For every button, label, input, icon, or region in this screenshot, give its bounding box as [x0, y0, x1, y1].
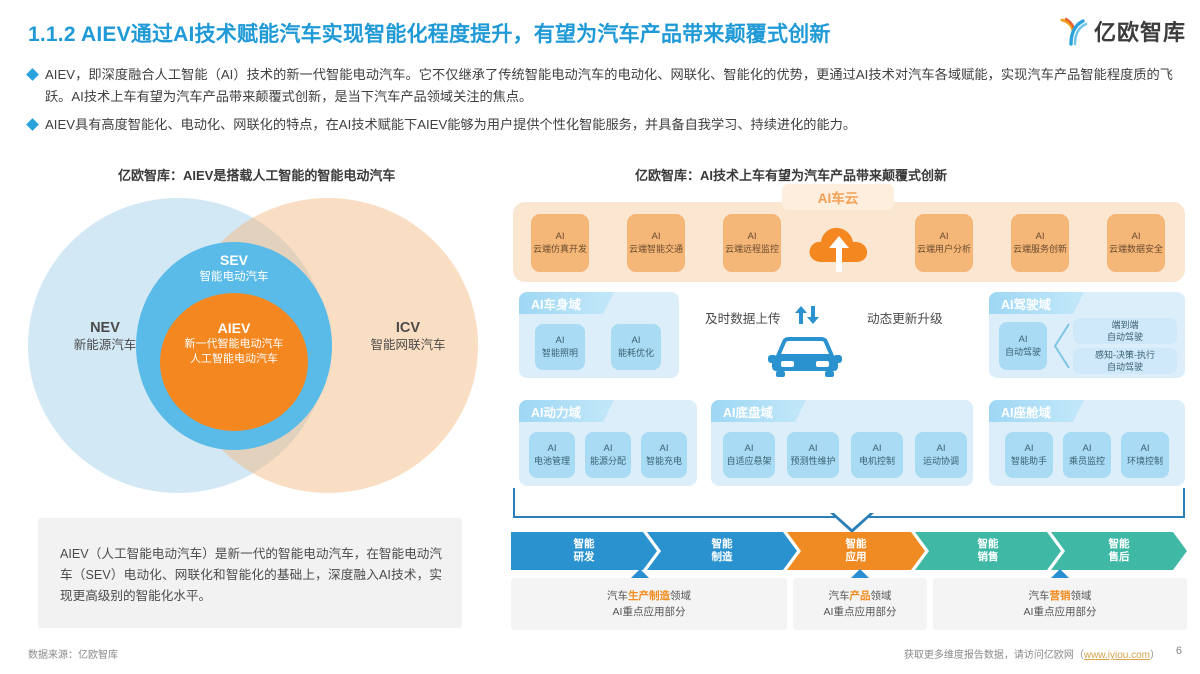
domain-title-body: AI车身域 — [519, 292, 603, 314]
domain-branch-item[interactable]: 端到端 自动驾驶 — [1073, 318, 1177, 344]
note-line2: AI重点应用部分 — [1024, 604, 1097, 620]
cloud-item-tag: AI — [748, 231, 757, 244]
note-line2: AI重点应用部分 — [824, 604, 897, 620]
domain-item-tag: AI — [632, 335, 641, 347]
bullet-list: AIEV，即深度融合人工智能（AI）技术的新一代智能电动汽车。它不仅继承了传统智… — [28, 64, 1178, 142]
note-line1: 汽车生产制造领域 — [607, 588, 691, 604]
diamond-bullet-icon — [26, 118, 39, 131]
domain-item-name: 电机控制 — [859, 455, 895, 467]
domain-item-name: 自适应悬架 — [726, 455, 771, 467]
domain-item[interactable]: AI 运动协调 — [915, 432, 967, 478]
venn-label-aiev-cn1: 新一代智能电动汽车 — [156, 337, 312, 352]
domain-item[interactable]: AI 智能充电 — [641, 432, 687, 478]
cloud-item-tag: AI — [1132, 231, 1141, 244]
domain-item[interactable]: AI 智能照明 — [535, 324, 585, 370]
chevron-line1: 智能 — [574, 538, 595, 551]
venn-label-nev-en: NEV — [40, 320, 170, 337]
domain-title-cockpit: AI座舱域 — [989, 400, 1073, 422]
note-highlight: 生产制造 — [628, 590, 670, 602]
note-pointer-icon — [851, 569, 869, 578]
chevron-step[interactable]: 智能 应用 — [787, 532, 925, 570]
domain-item[interactable]: AI 电机控制 — [851, 432, 903, 478]
venn-label-icv: ICV 智能网联汽车 — [338, 320, 478, 354]
cloud-item-tag: AI — [940, 231, 949, 244]
note-suffix: 领域 — [871, 590, 892, 602]
cloud-item-name: 云端仿真开发 — [533, 243, 587, 256]
domain-item-tag: AI — [604, 443, 613, 455]
chevron-line2: 销售 — [978, 551, 999, 564]
domain-item-name: 智能助手 — [1011, 455, 1047, 467]
cloud-item-name: 云端远程监控 — [725, 243, 779, 256]
cloud-item-tag: AI — [652, 231, 661, 244]
domain-item-name: 智能充电 — [646, 455, 682, 467]
note-prefix: 汽车 — [607, 590, 628, 602]
cloud-upload-icon — [804, 222, 874, 278]
domain-item-tag: AI — [873, 443, 882, 455]
venn-diagram: NEV 新能源汽车 ICV 智能网联汽车 SEV 智能电动汽车 AIEV 新一代… — [28, 190, 483, 500]
cloud-item-tag: AI — [556, 231, 565, 244]
domain-title-driving: AI驾驶域 — [989, 292, 1073, 314]
bullet-item: AIEV具有高度智能化、电动化、网联化的特点，在AI技术赋能下AIEV能够为用户… — [28, 114, 1178, 136]
domain-item[interactable]: AI 能耗优化 — [611, 324, 661, 370]
chevron-line1: 智能 — [846, 538, 867, 551]
venn-label-nev: NEV 新能源汽车 — [40, 320, 170, 354]
note-prefix: 汽车 — [1029, 590, 1050, 602]
cloud-item-name: 云端数据安全 — [1109, 243, 1163, 256]
chevron-line2: 应用 — [846, 551, 867, 564]
note-highlight: 营销 — [1050, 590, 1071, 602]
domain-item-tag: AI — [937, 443, 946, 455]
domain-item-tag: AI — [1025, 443, 1034, 455]
cloud-item[interactable]: AI 云端远程监控 — [723, 214, 781, 272]
domain-title-power: AI动力域 — [519, 400, 603, 422]
branch-connector-icon — [1049, 322, 1071, 375]
data-upload-label: 及时数据上传 — [705, 308, 781, 327]
chevron-step[interactable]: 智能 售后 — [1051, 532, 1187, 570]
note-suffix: 领域 — [670, 590, 691, 602]
note-line1: 汽车营销领域 — [1029, 588, 1092, 604]
domain-item-name: 自动驾驶 — [1005, 346, 1041, 358]
cloud-item[interactable]: AI 云端智能交通 — [627, 214, 685, 272]
domain-item-name: 运动协调 — [923, 455, 959, 467]
domain-item[interactable]: AI 自适应悬架 — [723, 432, 775, 478]
domain-item-name: 智能照明 — [542, 347, 578, 359]
domain-item-tag: AI — [1083, 443, 1092, 455]
bracket-arrow-inner-icon — [834, 513, 870, 529]
right-panel-heading: 亿欧智库：AI技术上车有望为汽车产品带来颠覆式创新 — [635, 165, 947, 184]
cloud-item[interactable]: AI 云端用户分析 — [915, 214, 973, 272]
note-line2: AI重点应用部分 — [613, 604, 686, 620]
application-notes: 汽车生产制造领域 AI重点应用部分 汽车产品领域 AI重点应用部分 汽车营销领域… — [511, 578, 1187, 634]
domain-item-name: 乘员监控 — [1069, 455, 1105, 467]
page-number: 6 — [1176, 645, 1182, 657]
domain-item-name: 电池管理 — [534, 455, 570, 467]
domain-branch-line2: 自动驾驶 — [1107, 331, 1143, 343]
domain-branch-line1: 端到端 — [1111, 319, 1138, 331]
venn-label-sev-cn: 智能电动汽车 — [158, 269, 310, 286]
slide-page: 1.1.2 AIEV通过AI技术赋能汽车实现智能化程度提升，有望为汽车产品带来颠… — [0, 0, 1200, 674]
note-line1: 汽车产品领域 — [829, 588, 892, 604]
domain-item[interactable]: AI 智能助手 — [1005, 432, 1053, 478]
dynamic-update-label: 动态更新升级 — [867, 308, 943, 327]
domain-item[interactable]: AI 环境控制 — [1121, 432, 1169, 478]
bullet-text: AIEV具有高度智能化、电动化、网联化的特点，在AI技术赋能下AIEV能够为用户… — [45, 114, 1173, 136]
chevron-line1: 智能 — [712, 538, 733, 551]
value-chain-chevrons: 智能 研发 智能 制造 智能 应用 智能 销售 智能 售后 — [511, 532, 1187, 570]
domain-item[interactable]: AI 乘员监控 — [1063, 432, 1111, 478]
note-highlight: 产品 — [850, 590, 871, 602]
note-prefix: 汽车 — [829, 590, 850, 602]
chevron-step[interactable]: 智能 制造 — [647, 532, 797, 570]
domain-item-name: 能源分配 — [590, 455, 626, 467]
venn-label-sev-en: SEV — [158, 252, 310, 269]
logo-mark-icon — [1056, 14, 1090, 48]
up-down-arrows-icon — [793, 306, 821, 324]
footer-note-suffix: ） — [1150, 650, 1160, 661]
domain-panel-power: AI动力域 AI 电池管理 AI 能源分配 AI 智能充电 — [519, 400, 697, 486]
domain-branch-line1: 感知-决策-执行 — [1095, 349, 1155, 361]
venn-label-icv-en: ICV — [338, 320, 478, 337]
domain-item[interactable]: AI 电池管理 — [529, 432, 575, 478]
domain-item-name: 能耗优化 — [618, 347, 654, 359]
car-front-icon — [768, 336, 842, 380]
domain-item[interactable]: AI 预测性维护 — [787, 432, 839, 478]
bullet-item: AIEV，即深度融合人工智能（AI）技术的新一代智能电动汽车。它不仅继承了传统智… — [28, 64, 1178, 108]
footer-note-prefix: 获取更多维度报告数据，请访问亿欧网（ — [904, 650, 1084, 661]
aiev-definition-box: AIEV（人工智能电动汽车）是新一代的智能电动汽车，在智能电动汽车（SEV）电动… — [38, 518, 462, 628]
venn-label-aiev-cn2: 人工智能电动汽车 — [156, 352, 312, 367]
page-title: 1.1.2 AIEV通过AI技术赋能汽车实现智能化程度提升，有望为汽车产品带来颠… — [28, 18, 831, 48]
cloud-item-name: 云端智能交通 — [629, 243, 683, 256]
domain-panel-body: AI车身域 AI 智能照明 AI 能耗优化 — [519, 292, 679, 378]
domain-item-tag: AI — [809, 443, 818, 455]
chevron-line2: 制造 — [712, 551, 733, 564]
chevron-line2: 研发 — [574, 551, 595, 564]
application-note: 汽车生产制造领域 AI重点应用部分 — [511, 578, 787, 630]
brand-logo: 亿欧智库 — [1056, 14, 1186, 48]
domain-item-name: 环境控制 — [1127, 455, 1163, 467]
footer-source: 数据来源：亿欧智库 — [28, 646, 118, 661]
note-pointer-icon — [631, 569, 649, 578]
cloud-item-name: 云端用户分析 — [917, 243, 971, 256]
venn-label-icv-cn: 智能网联汽车 — [338, 337, 478, 354]
domain-panel-chassis: AI底盘域 AI 自适应悬架 AI 预测性维护 AI 电机控制 AI 运动协调 — [711, 400, 973, 486]
domain-panel-cockpit: AI座舱域 AI 智能助手 AI 乘员监控 AI 环境控制 — [989, 400, 1185, 486]
cloud-item-tag: AI — [1036, 231, 1045, 244]
application-note: 汽车产品领域 AI重点应用部分 — [793, 578, 927, 630]
page-header: 1.1.2 AIEV通过AI技术赋能汽车实现智能化程度提升，有望为汽车产品带来颠… — [0, 0, 1200, 58]
cloud-item[interactable]: AI 云端仿真开发 — [531, 214, 589, 272]
chevron-line1: 智能 — [978, 538, 999, 551]
domain-title-chassis: AI底盘域 — [711, 400, 795, 422]
footer-note: 获取更多维度报告数据，请访问亿欧网（www.iyiou.com） — [904, 646, 1160, 661]
domain-item-tag: AI — [556, 335, 565, 347]
domain-branch-item[interactable]: 感知-决策-执行 自动驾驶 — [1073, 348, 1177, 374]
cloud-item[interactable]: AI 云端服务创新 — [1011, 214, 1069, 272]
footer-link[interactable]: www.iyiou.com — [1084, 650, 1150, 661]
cloud-item-name: 云端服务创新 — [1013, 243, 1067, 256]
domain-item-tag: AI — [548, 443, 557, 455]
domain-branch-line2: 自动驾驶 — [1107, 361, 1143, 373]
venn-label-sev: SEV 智能电动汽车 — [158, 252, 310, 286]
chevron-step[interactable]: 智能 研发 — [511, 532, 657, 570]
cloud-item[interactable]: AI 云端数据安全 — [1107, 214, 1165, 272]
application-note: 汽车营销领域 AI重点应用部分 — [933, 578, 1187, 630]
note-pointer-icon — [1051, 569, 1069, 578]
left-panel-heading: 亿欧智库：AIEV是搭载人工智能的智能电动汽车 — [118, 165, 395, 184]
ai-cloud-label: AI车云 — [782, 184, 894, 210]
chevron-line1: 智能 — [1109, 538, 1130, 551]
venn-label-aiev: AIEV 新一代智能电动汽车 人工智能电动汽车 — [156, 320, 312, 367]
domain-item-name: 预测性维护 — [790, 455, 835, 467]
diamond-bullet-icon — [26, 68, 39, 81]
ai-architecture-diagram: AI车云 AI 云端仿真开发 AI 云端智能交通 AI 云端远程监控 AI 云端… — [505, 188, 1193, 608]
logo-text: 亿欧智库 — [1094, 15, 1186, 47]
domain-item-tag: AI — [1019, 334, 1028, 346]
aiev-definition-text: AIEV（人工智能电动汽车）是新一代的智能电动汽车，在智能电动汽车（SEV）电动… — [60, 544, 442, 607]
domain-item-tag: AI — [1141, 443, 1150, 455]
domain-panel-driving: AI驾驶域 AI 自动驾驶 端到端 自动驾驶 感知-决策-执行 自动驾驶 — [989, 292, 1185, 378]
domain-item-tag: AI — [660, 443, 669, 455]
note-suffix: 领域 — [1071, 590, 1092, 602]
domain-item[interactable]: AI 自动驾驶 — [999, 322, 1047, 370]
venn-label-nev-cn: 新能源汽车 — [40, 337, 170, 354]
chevron-line2: 售后 — [1109, 551, 1130, 564]
chevron-step[interactable]: 智能 销售 — [915, 532, 1061, 570]
bullet-text: AIEV，即深度融合人工智能（AI）技术的新一代智能电动汽车。它不仅继承了传统智… — [45, 64, 1173, 108]
domain-item-tag: AI — [745, 443, 754, 455]
domain-item[interactable]: AI 能源分配 — [585, 432, 631, 478]
venn-label-aiev-en: AIEV — [156, 320, 312, 337]
